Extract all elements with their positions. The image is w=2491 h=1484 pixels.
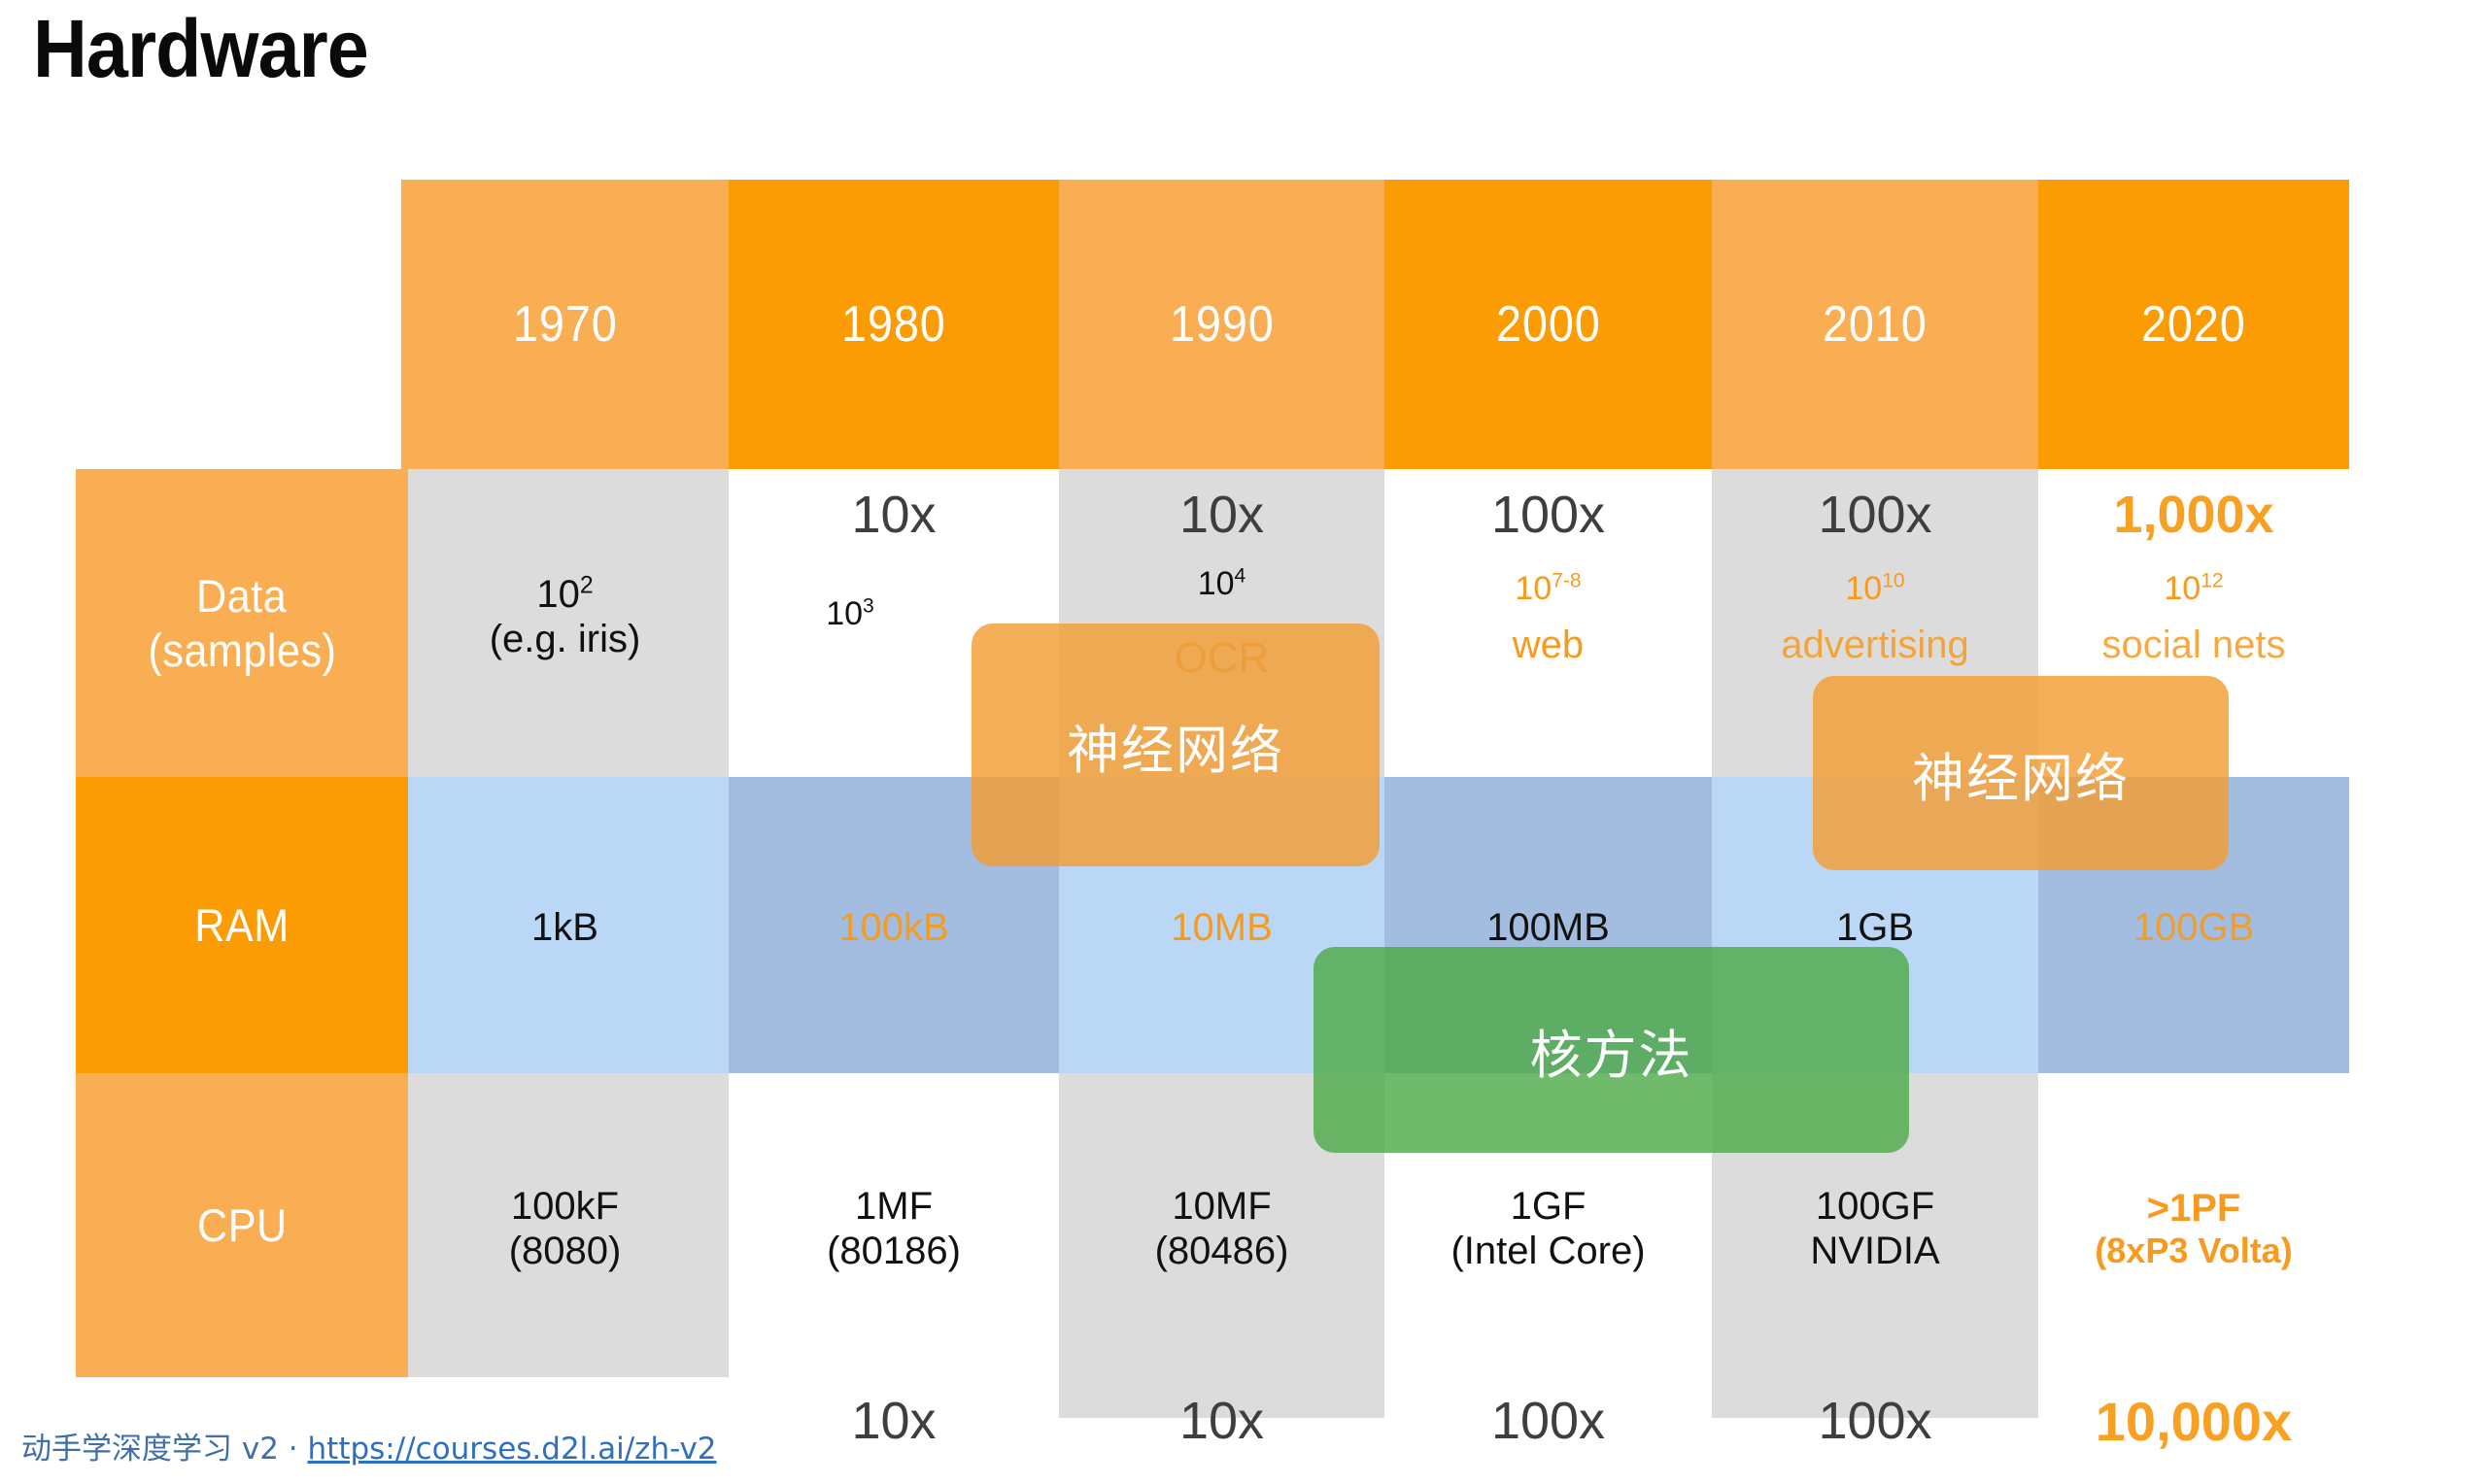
- cpu-note: (8080): [509, 1229, 622, 1273]
- bottom-multiplier-2000: 100x: [1384, 1383, 1712, 1459]
- cpu-note: (Intel Core): [1450, 1229, 1645, 1273]
- ram-value: 1kB: [531, 905, 598, 950]
- ram-value: 100MB: [1486, 905, 1610, 950]
- callout-label: 核方法: [1530, 1012, 1693, 1089]
- ram-cell-1970: 1kB: [401, 898, 729, 957]
- ram-cell-1980: 100kB: [729, 898, 1059, 957]
- multiplier-label: 10x: [1179, 1391, 1264, 1451]
- year-label: 2010: [1823, 295, 1928, 354]
- row-label-line: RAM: [194, 898, 289, 952]
- cpu-cell-2010: 100GF NVIDIA: [1712, 1170, 2038, 1287]
- data-cell-1980: 103: [729, 581, 972, 649]
- bottom-multiplier-2020: 10,000x: [2038, 1383, 2349, 1459]
- data-cell-1970: 102 (e.g. iris): [401, 563, 729, 670]
- value-text: 10: [826, 595, 863, 632]
- cpu-note: (80486): [1155, 1229, 1289, 1273]
- ram-cell-2020: 100GB: [2038, 898, 2349, 957]
- year-label: 2000: [1496, 295, 1601, 354]
- cpu-cell-1980: 1MF (80186): [729, 1170, 1059, 1287]
- data-cell-2020: 1012 social nets: [2038, 556, 2349, 682]
- year-header-1990: 1990: [1059, 180, 1384, 469]
- multiplier-label: 10x: [851, 1391, 936, 1451]
- data-multiplier-2020: 1,000x: [2038, 478, 2349, 552]
- ram-value: 10MB: [1171, 905, 1273, 950]
- cpu-cell-1990: 10MF (80486): [1059, 1170, 1384, 1287]
- data-multiplier-2010: 100x: [1712, 478, 2038, 552]
- year-label: 1990: [1170, 295, 1275, 354]
- footer: 动手学深度学习 v2 · https://courses.d2l.ai/zh-v…: [21, 1424, 717, 1467]
- row-label-data: Data (samples): [76, 469, 408, 777]
- data-note: (e.g. iris): [490, 617, 641, 661]
- cpu-note: NVIDIA: [1810, 1229, 1939, 1273]
- cpu-value: 100GF: [1816, 1184, 1934, 1229]
- multiplier-label: 100x: [1818, 1391, 1931, 1451]
- value-exponent: 12: [2201, 570, 2223, 592]
- row-label-ram: RAM: [76, 777, 408, 1073]
- ram-value: 100GB: [2133, 905, 2255, 950]
- cpu-value: 10MF: [1172, 1184, 1271, 1229]
- multiplier-label: 10x: [1179, 489, 1264, 541]
- year-header-2000: 2000: [1384, 180, 1712, 469]
- ram-value: 1GB: [1836, 905, 1914, 950]
- cpu-value: >1PF: [2147, 1186, 2241, 1231]
- multiplier-label: 100x: [1818, 489, 1931, 541]
- multiplier-label: 1,000x: [2113, 489, 2273, 541]
- cpu-cell-1970: 100kF (8080): [401, 1170, 729, 1287]
- year-header-1980: 1980: [729, 180, 1059, 469]
- row-label-cpu: CPU: [76, 1073, 408, 1377]
- value-text: 10: [2164, 570, 2201, 607]
- callout-label: 神经网络: [1912, 735, 2130, 812]
- year-label: 1980: [841, 295, 946, 354]
- year-header-2010: 2010: [1712, 180, 2038, 469]
- multiplier-label: 10,000x: [2096, 1390, 2292, 1453]
- value-text: 10: [1845, 570, 1882, 607]
- value-exponent: 10: [1882, 570, 1904, 592]
- cpu-note: (8xP3 Volta): [2095, 1231, 2292, 1271]
- data-value: 1010: [1845, 570, 1904, 608]
- value-exponent: 4: [1235, 565, 1246, 588]
- value-text: 10: [1515, 570, 1552, 607]
- data-value: 102: [536, 572, 593, 617]
- data-note: advertising: [1781, 623, 1968, 667]
- callout-label: 神经网络: [1067, 707, 1284, 784]
- multiplier-label: 100x: [1491, 489, 1605, 541]
- data-value: 1012: [2164, 570, 2223, 608]
- cpu-note: (80186): [827, 1229, 961, 1273]
- data-note: web: [1513, 623, 1584, 667]
- bottom-multiplier-2010: 100x: [1712, 1383, 2038, 1459]
- value-exponent: 3: [863, 595, 874, 618]
- data-multiplier-2000: 100x: [1384, 478, 1712, 552]
- bottom-multiplier-1990: 10x: [1059, 1383, 1384, 1459]
- row-label-line: (samples): [148, 624, 336, 677]
- year-label: 2020: [2141, 295, 2246, 354]
- year-header-1970: 1970: [401, 180, 729, 469]
- callout-kernel-method[interactable]: 核方法: [1314, 947, 1909, 1153]
- data-multiplier-1980: 10x: [729, 478, 1059, 552]
- value-exponent: 7-8: [1552, 570, 1581, 592]
- cpu-cell-2000: 1GF (Intel Core): [1384, 1170, 1712, 1287]
- value-text: 10: [1198, 565, 1235, 602]
- year-header-2020: 2020: [2038, 180, 2349, 469]
- data-value: 104: [1198, 565, 1246, 603]
- data-cell-2000: 107-8 web: [1384, 556, 1712, 682]
- cpu-cell-2020: >1PF (8xP3 Volta): [2038, 1170, 2349, 1287]
- callout-neural-network-1[interactable]: 神经网络: [972, 624, 1380, 866]
- cpu-value: 1GF: [1511, 1184, 1587, 1229]
- data-note: social nets: [2102, 623, 2286, 667]
- data-cell-1990: 104: [1059, 556, 1384, 614]
- row-label-line: Data: [196, 569, 287, 623]
- value-exponent: 2: [580, 572, 594, 598]
- data-value: 107-8: [1515, 570, 1581, 608]
- hardware-table: 1970 1980 1990 2000 2010 2020 Data (samp…: [0, 0, 2491, 1484]
- footer-separator: ·: [289, 1432, 298, 1467]
- footer-url-link[interactable]: https://courses.d2l.ai/zh-v2: [308, 1432, 717, 1467]
- callout-neural-network-2[interactable]: 神经网络: [1813, 676, 2229, 870]
- multiplier-label: 10x: [851, 489, 936, 541]
- ram-value: 100kB: [838, 905, 948, 950]
- cpu-value: 100kF: [511, 1184, 619, 1229]
- cpu-value: 1MF: [855, 1184, 933, 1229]
- data-multiplier-1990: 10x: [1059, 478, 1384, 552]
- data-cell-2010: 1010 advertising: [1712, 556, 2038, 682]
- year-label: 1970: [513, 295, 618, 354]
- footer-course-label: 动手学深度学习 v2: [21, 1432, 279, 1467]
- bottom-multiplier-1980: 10x: [729, 1383, 1059, 1459]
- data-value: 103: [826, 595, 874, 633]
- value-text: 10: [536, 573, 580, 616]
- multiplier-label: 100x: [1491, 1391, 1605, 1451]
- row-label-line: CPU: [197, 1198, 288, 1252]
